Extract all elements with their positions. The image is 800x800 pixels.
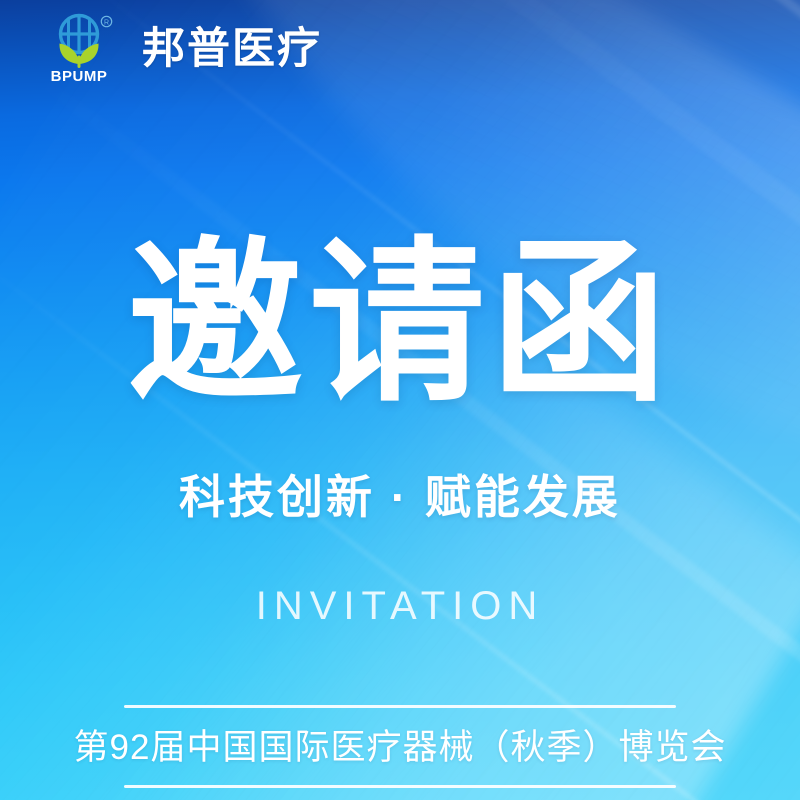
invitation-english-label: INVITATION xyxy=(256,586,545,626)
divider-bottom xyxy=(124,785,676,788)
page-title: 邀请函 xyxy=(127,236,673,412)
event-name-block: 第92届中国国际医疗器械（秋季）博览会 xyxy=(0,705,800,788)
event-name: 第92届中国国际医疗器械（秋季）博览会 xyxy=(74,708,727,785)
logo-wordmark: BPUMP xyxy=(51,68,108,85)
invitation-poster: R BPUMP 邦普医疗 邀请函 科技创新 · 赋能发展 INVITATION … xyxy=(0,0,800,800)
subtitle-slogan: 科技创新 · 赋能发展 xyxy=(179,474,621,520)
svg-text:R: R xyxy=(104,19,109,26)
poster-header: R BPUMP 邦普医疗 xyxy=(0,0,800,98)
brand-name: 邦普医疗 xyxy=(142,28,322,71)
bpump-flower-logo-icon: R BPUMP xyxy=(46,13,120,85)
poster-content: 邀请函 科技创新 · 赋能发展 INVITATION 第92届中国国际医疗器械（… xyxy=(0,0,800,800)
